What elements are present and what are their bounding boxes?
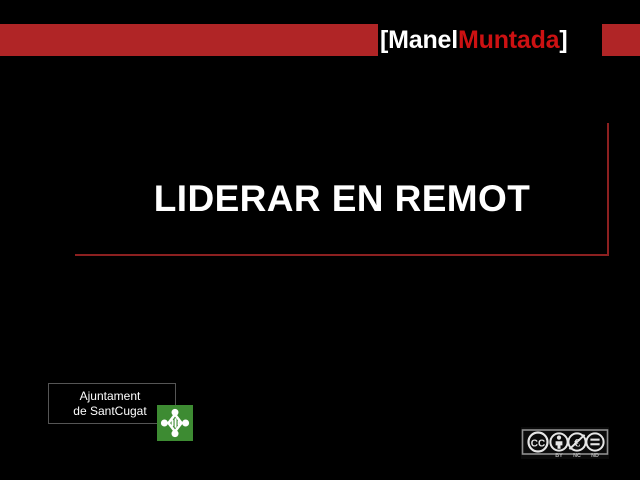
brand-wordmark: [ManelMuntada] [380,21,605,59]
slide-canvas: [ManelMuntada] LIDERAR EN REMOT Ajuntame… [0,0,640,480]
brand-name-first: Manel [388,26,458,55]
ajuntament-logo-line-2: de SantCugat [73,404,146,419]
cc-term-by: BY [555,453,563,459]
brand-name-second: Muntada [458,26,559,55]
cc-term-nc: NC [573,453,581,459]
svg-text:CC: CC [531,438,545,449]
creative-commons-badge[interactable]: CC € BY NC ND [521,427,609,459]
brand-bracket-close: ] [559,26,567,55]
brand-bracket-open: [ [380,26,388,55]
network-node-icon [157,405,193,441]
ajuntament-logo-line-1: Ajuntament [80,389,141,404]
ajuntament-logo: Ajuntament de SantCugat [48,383,194,441]
slide-title: LIDERAR EN REMOT [75,178,609,220]
header-band-right-segment [602,24,640,56]
cc-term-nd: ND [591,453,599,459]
header-band-left-segment [0,24,378,56]
